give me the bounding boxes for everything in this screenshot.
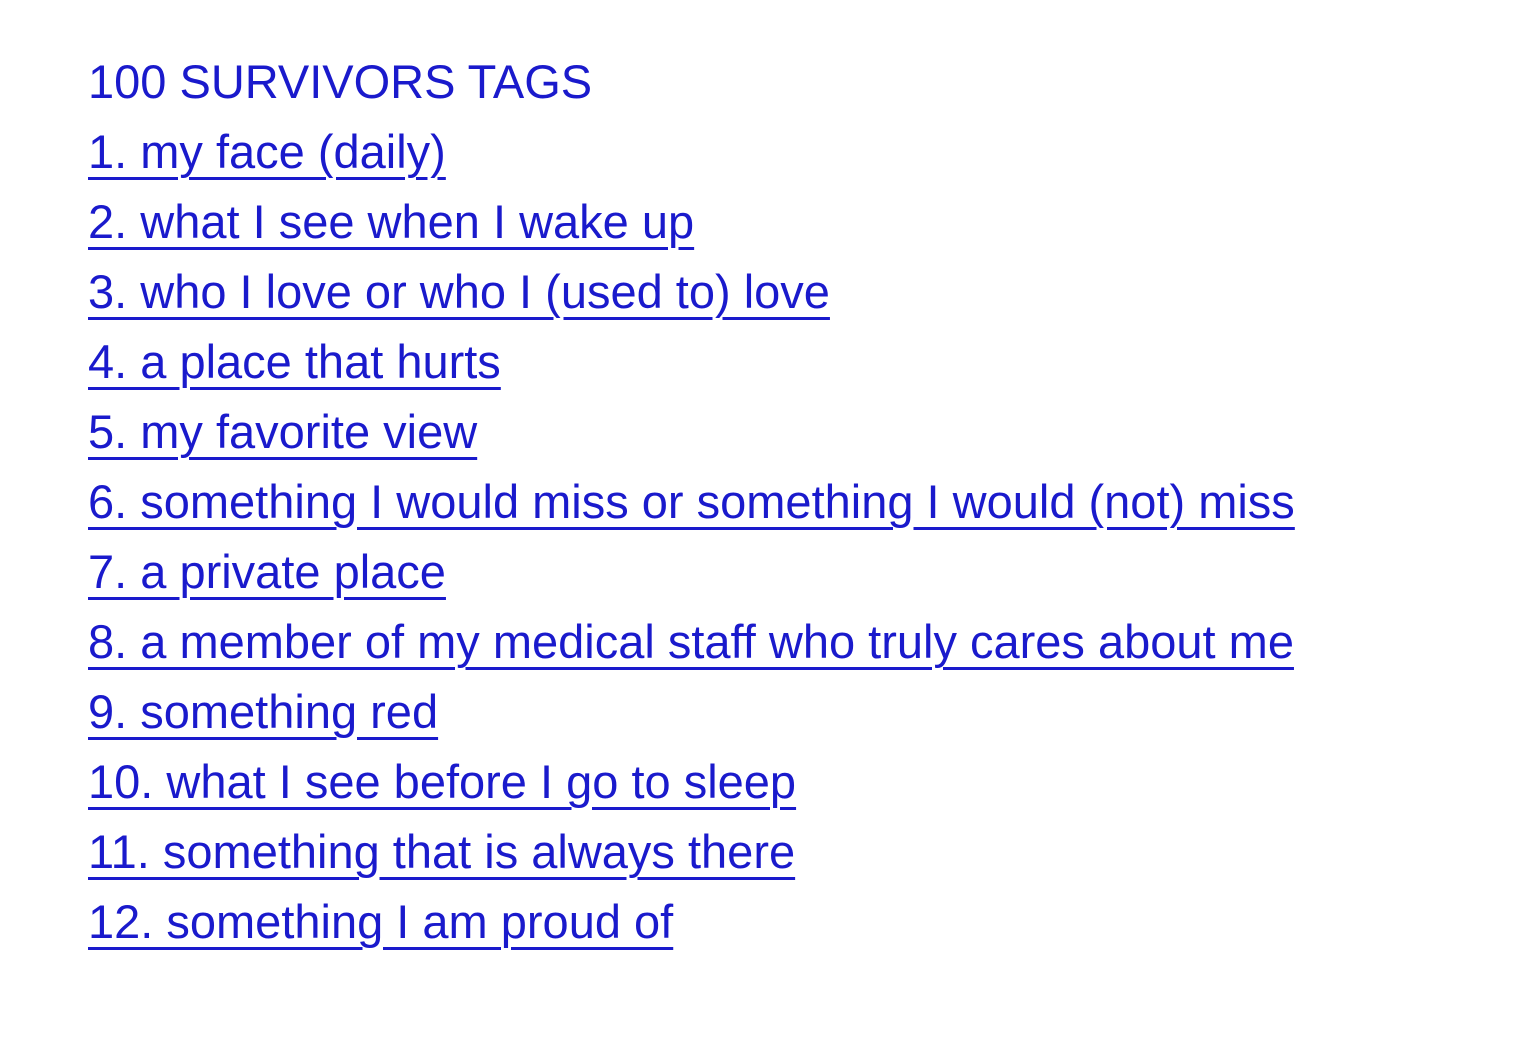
list-item: 4. a place that hurts [88, 327, 1508, 397]
list-item-text: 9. something red [88, 685, 438, 738]
list-item: 10. what I see before I go to sleep [88, 747, 1508, 817]
list-item: 6. something I would miss or something I… [88, 467, 1508, 537]
list-item: 7. a private place [88, 537, 1508, 607]
list-item-text: 1. my face (daily) [88, 125, 446, 178]
list-item-text: 4. a place that hurts [88, 335, 501, 388]
survivors-tags-document: 100 SURVIVORS TAGS 1. my face (daily) 2.… [88, 47, 1508, 957]
list-item-text: 8. a member of my medical staff who trul… [88, 615, 1294, 668]
list-item: 11. something that is always there [88, 817, 1508, 887]
list-item-text: 11. something that is always there [88, 825, 795, 878]
list-item: 5. my favorite view [88, 397, 1508, 467]
list-item-text: 3. who I love or who I (used to) love [88, 265, 830, 318]
list-item: 8. a member of my medical staff who trul… [88, 607, 1508, 677]
page-canvas: 100 SURVIVORS TAGS 1. my face (daily) 2.… [0, 0, 1536, 1056]
list-item-text: 5. my favorite view [88, 405, 477, 458]
list-item-text: 7. a private place [88, 545, 446, 598]
list-item-text: 2. what I see when I wake up [88, 195, 694, 248]
list-item: 9. something red [88, 677, 1508, 747]
list-item-text: 10. what I see before I go to sleep [88, 755, 796, 808]
list-item-text: 12. something I am proud of [88, 895, 673, 948]
list-item: 3. who I love or who I (used to) love [88, 257, 1508, 327]
list-item: 2. what I see when I wake up [88, 187, 1508, 257]
list-item-text: 6. something I would miss or something I… [88, 475, 1295, 528]
page-title: 100 SURVIVORS TAGS [88, 47, 1508, 117]
list-item: 12. something I am proud of [88, 887, 1508, 957]
list-item: 1. my face (daily) [88, 117, 1508, 187]
